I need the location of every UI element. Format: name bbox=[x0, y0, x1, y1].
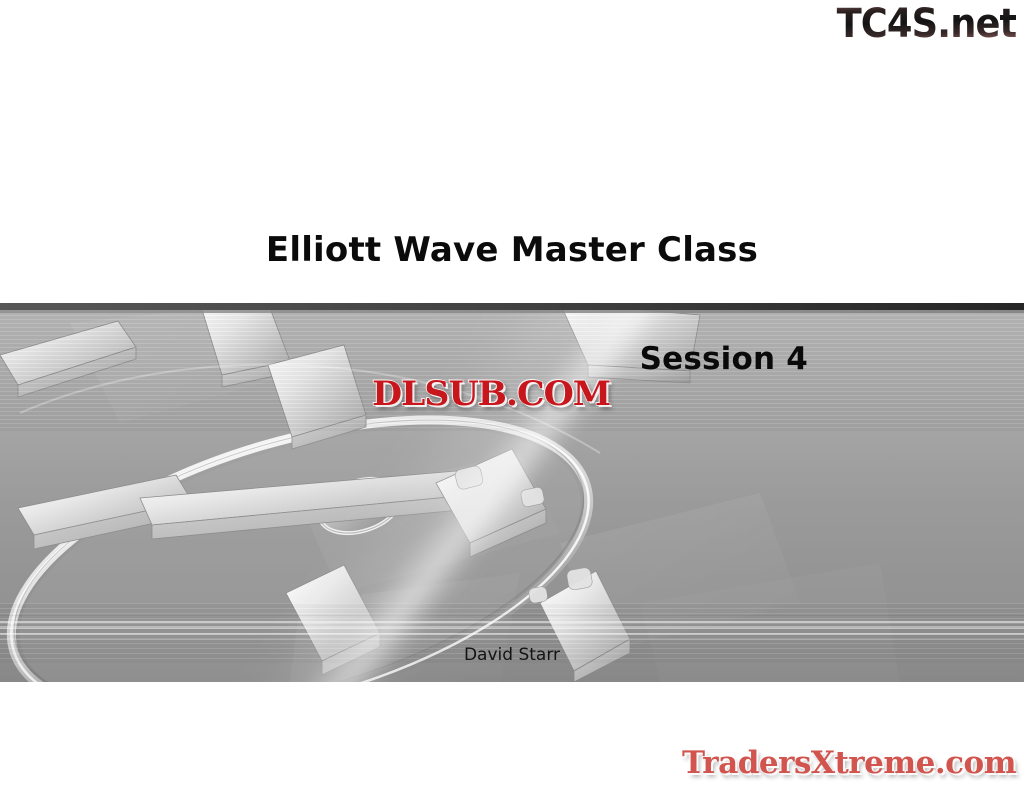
slide-canvas: TC4S.net Elliott Wave Master Class bbox=[0, 0, 1024, 791]
tc4s-logo: TC4S.net bbox=[836, 4, 1016, 44]
presenter-name: David Starr bbox=[0, 645, 1024, 665]
tradersxtreme-logo: TradersXtreme.com bbox=[682, 748, 1016, 779]
band-top-rail bbox=[0, 303, 1024, 310]
page-title: Elliott Wave Master Class bbox=[0, 232, 1024, 269]
session-label: Session 4 bbox=[0, 341, 808, 377]
band-top-rail-soft bbox=[0, 310, 1024, 313]
dlsub-watermark: DLSUB.COM bbox=[372, 377, 610, 411]
